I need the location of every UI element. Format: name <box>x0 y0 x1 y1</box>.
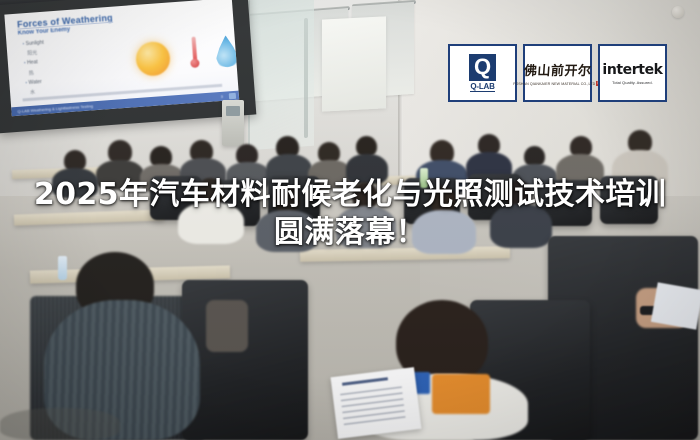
partner-logo-strip: Q Q-LAB 佛山前开尔 FOSHAN QIANKAIER NEW MATER… <box>448 44 667 102</box>
title-line-1: 2025年汽车材料耐候老化与光照测试技术培训 <box>0 176 700 214</box>
logo-foshan: 佛山前开尔 FOSHAN QIANKAIER NEW MATERIAL CO.,… <box>523 44 592 102</box>
qlab-q-icon: Q <box>469 54 496 81</box>
qlab-wordmark: Q-LAB <box>470 82 494 93</box>
slide-bullet: Heat <box>24 59 46 67</box>
slide-bullet: 阳光 <box>27 49 45 57</box>
whiteboard <box>322 16 386 111</box>
slide-bullet: Water <box>25 78 47 86</box>
sun-icon <box>135 41 171 77</box>
ceiling-sensor-icon <box>672 6 684 18</box>
slide-bullet: 水 <box>30 88 48 96</box>
title-overlay: 2025年汽车材料耐候老化与光照测试技术培训 圆满落幕！ <box>0 176 700 253</box>
slide-bullet: Sunlight <box>22 40 44 48</box>
slide-bullet-list: Sunlight 阳光 Heat 热 Water 水 <box>22 40 47 100</box>
presentation-slide: Forces of Weathering Know Your Enemy Sun… <box>4 0 239 116</box>
screenshot-canvas: Forces of Weathering Know Your Enemy Sun… <box>0 0 700 440</box>
foshan-tagline-row: FOSHAN QIANKAIER NEW MATERIAL CO.,LTD 印 <box>513 81 602 86</box>
thermometer-icon <box>189 36 201 73</box>
lab-equipment <box>222 100 244 146</box>
foshan-wordmark: 佛山前开尔 <box>523 60 592 79</box>
logo-qlab: Q Q-LAB <box>448 44 517 102</box>
slide-footer-text: Q-LAB Weathering & Lightfastness Testing <box>17 103 93 114</box>
lanyard <box>432 374 490 414</box>
slide-bullet: 热 <box>28 68 46 76</box>
slide-page-number: 3 <box>221 94 224 99</box>
printed-handout <box>651 282 700 329</box>
slide-footer-mark <box>229 92 236 98</box>
water-drop-icon <box>215 35 239 69</box>
intertek-tagline: Total Quality. Assured. <box>612 80 653 85</box>
logo-intertek: intertek Total Quality. Assured. <box>598 44 667 102</box>
intertek-wordmark: intertek <box>602 62 662 78</box>
bag <box>206 300 248 352</box>
title-line-2: 圆满落幕！ <box>0 214 700 252</box>
water-bottle <box>58 256 67 280</box>
floor-shadow <box>0 408 120 440</box>
foshan-tagline: FOSHAN QIANKAIER NEW MATERIAL CO.,LTD <box>513 82 595 86</box>
glass-partition-edge <box>304 18 308 138</box>
projection-screen: Forces of Weathering Know Your Enemy Sun… <box>0 0 256 133</box>
